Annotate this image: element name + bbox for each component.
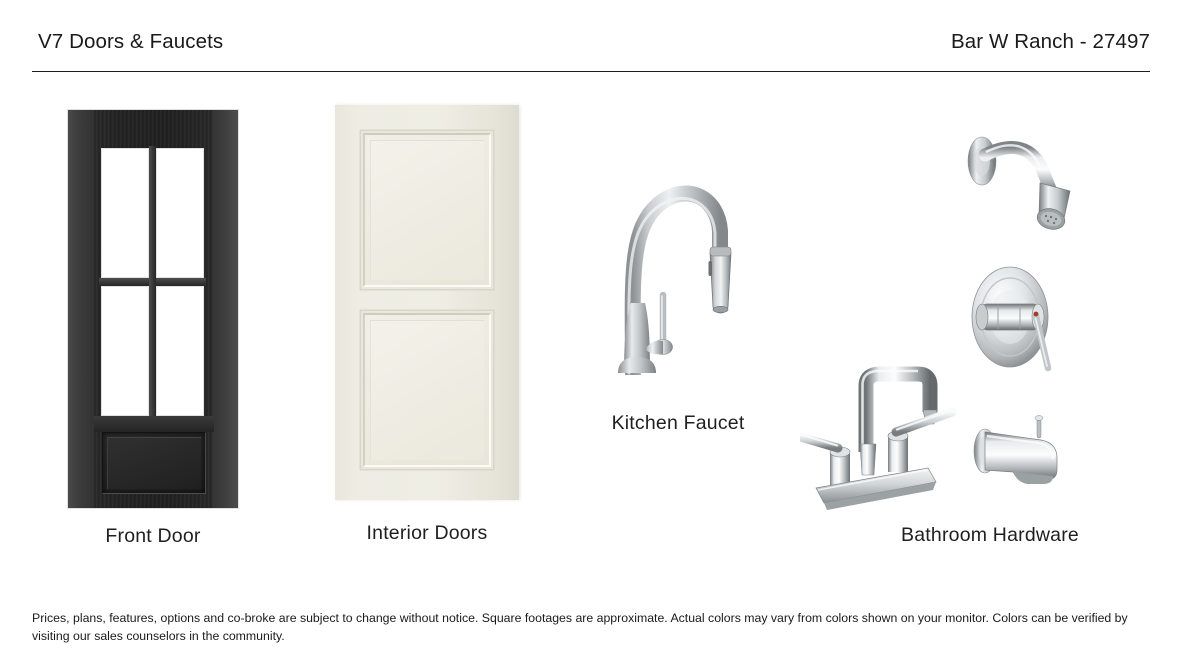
interior-door-upper-panel [363, 133, 491, 287]
front-door-left-stile [68, 110, 94, 508]
interior-door-upper-panel-inner [370, 140, 484, 280]
front-door-glass-pane [101, 286, 149, 416]
shower-valve-trim-icon [958, 260, 1078, 375]
interior-door-lower-panel-inner [370, 320, 484, 460]
front-door-glass-pane [156, 286, 204, 416]
kitchen-faucet-image [600, 135, 740, 375]
front-door-vertical-muntin [149, 146, 156, 418]
front-door-label: Front Door [68, 525, 238, 548]
front-door-image [68, 110, 238, 508]
interior-door-image [335, 105, 519, 500]
front-door-glass-pane [156, 148, 204, 278]
front-door-lock-rail [94, 416, 214, 432]
front-door-glass-pane [101, 148, 149, 278]
front-door-right-stile [212, 110, 238, 508]
page-title: V7 Doors & Faucets [38, 30, 223, 54]
kitchen-faucet-svg [600, 135, 740, 375]
interior-door-lower-panel [363, 313, 491, 467]
bathroom-hardware-image [790, 125, 1100, 510]
disclaimer-text: Prices, plans, features, options and co-… [32, 610, 1142, 645]
board-header: V7 Doors & Faucets Bar W Ranch - 27497 [32, 28, 1150, 72]
interior-doors-label: Interior Doors [335, 522, 519, 545]
tub-spout-icon [965, 410, 1080, 495]
bathroom-hardware-label: Bathroom Hardware [872, 524, 1108, 547]
front-door-bottom-panel [102, 432, 206, 494]
community-title: Bar W Ranch - 27497 [951, 30, 1150, 54]
front-door-bottom-panel-inner [107, 437, 201, 489]
showerhead-icon [955, 125, 1085, 240]
lavatory-faucet-icon [800, 340, 975, 510]
kitchen-faucet-label: Kitchen Faucet [580, 412, 776, 435]
